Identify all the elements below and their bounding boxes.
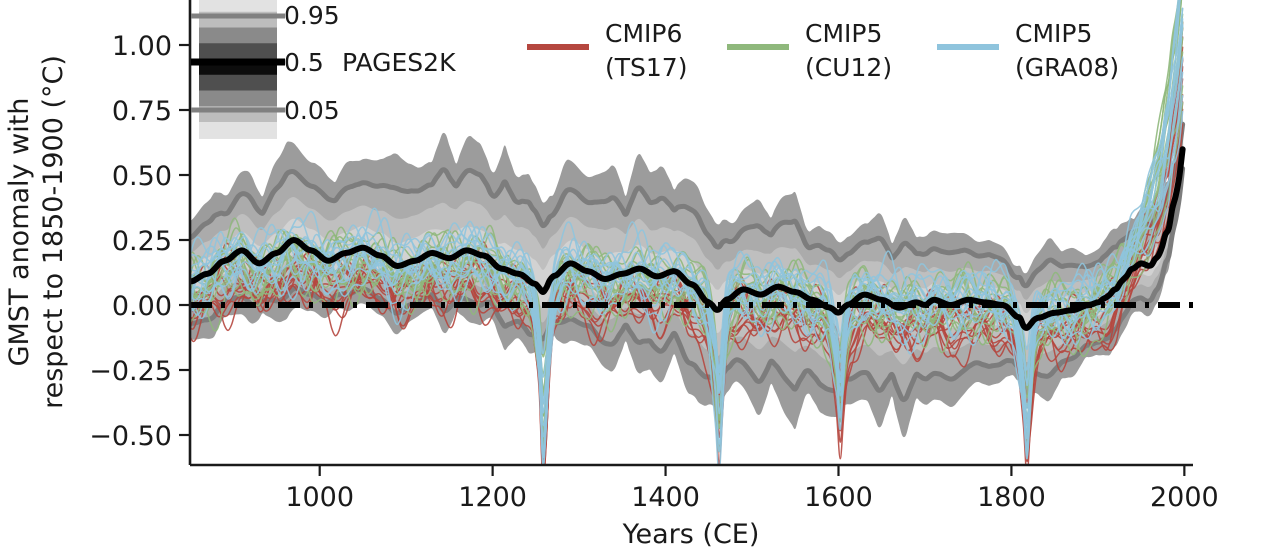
colorbar-series-label: PAGES2K [342, 48, 456, 77]
y-tick-label: 0.75 [112, 96, 172, 127]
pages2k-colorbar-legend [191, 0, 285, 139]
legend-label-line2: (GRA08) [1015, 53, 1119, 82]
x-tick-label: 1400 [631, 482, 700, 513]
x-axis-title: Years (CE) [622, 519, 760, 550]
colorbar-band [199, 75, 277, 92]
chart-svg: 100012001400160018002000 −0.50−0.250.000… [0, 0, 1267, 559]
y-tick-label: 1.00 [112, 31, 172, 62]
chart-figure: 100012001400160018002000 −0.50−0.250.000… [0, 0, 1267, 559]
y-axis-title-line2: respect to 1850-1900 (°C) [38, 55, 69, 409]
colorbar-band [199, 91, 277, 108]
y-tick-label: −0.25 [89, 356, 172, 387]
colorbar-band [199, 43, 277, 60]
y-axis-title: GMST anomaly with respect to 1850-1900 (… [4, 55, 69, 409]
x-tick-label: 2000 [1150, 482, 1219, 513]
colorbar-lower-label: 0.05 [284, 96, 340, 125]
series-legend: CMIP6(TS17)CMIP5(CU12)CMIP5(GRA08) [527, 19, 1119, 82]
legend-label-line2: (CU12) [805, 53, 892, 82]
x-tick-label: 1200 [458, 482, 527, 513]
y-tick-label: 0.00 [112, 291, 172, 322]
y-tick-labels: −0.50−0.250.000.250.500.751.00 [89, 31, 172, 452]
x-tick-label: 1600 [804, 482, 873, 513]
legend-label-line1: CMIP5 [805, 19, 882, 48]
y-tick-label: 0.25 [112, 226, 172, 257]
x-tick-label: 1000 [285, 482, 354, 513]
colorbar-band [199, 122, 277, 139]
x-tick-labels: 100012001400160018002000 [285, 482, 1218, 513]
y-tick-label: 0.50 [112, 161, 172, 192]
y-tick-label: −0.50 [89, 421, 172, 452]
colorbar-band [199, 28, 277, 45]
colorbar-median-label: 0.5 [284, 48, 324, 77]
x-tick-label: 1800 [977, 482, 1046, 513]
colorbar-band [199, 0, 277, 13]
legend-label-line1: CMIP6 [605, 19, 682, 48]
y-axis-title-line1: GMST anomaly with [4, 98, 35, 367]
legend-label-line1: CMIP5 [1015, 19, 1092, 48]
legend-label-line2: (TS17) [605, 53, 687, 82]
colorbar-upper-label: 0.95 [284, 1, 340, 30]
